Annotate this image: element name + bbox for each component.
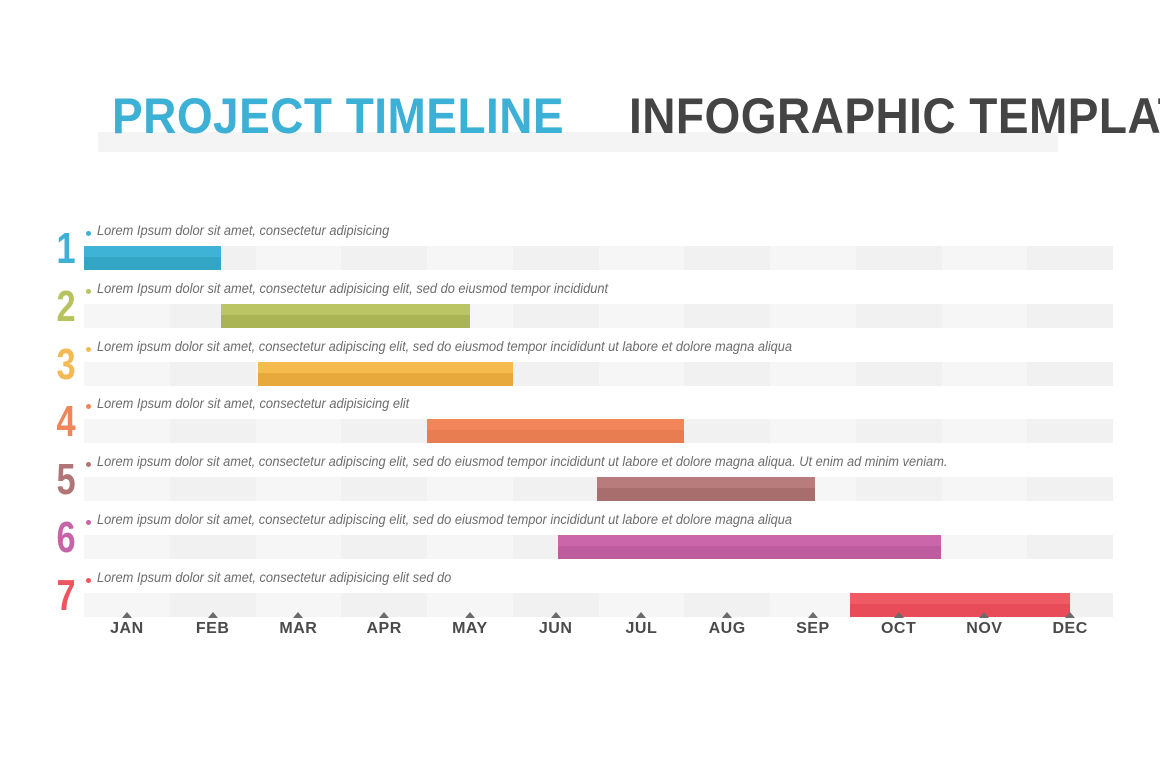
- axis-tick-apr: APR: [341, 612, 427, 638]
- tick-label: NOV: [942, 620, 1028, 638]
- row-label: Lorem Ipsum dolor sit amet, consectetur …: [97, 222, 389, 240]
- timeline-row: 5Lorem ipsum dolor sit amet, consectetur…: [48, 451, 1113, 509]
- track-column: [684, 246, 770, 270]
- track-column: [942, 419, 1028, 443]
- track-column: [856, 477, 942, 501]
- track-column: [84, 535, 170, 559]
- tick-label: JAN: [84, 620, 170, 638]
- timeline-bar[interactable]: [597, 477, 815, 501]
- track-column: [1027, 304, 1113, 328]
- tick-arrow-icon: [551, 612, 561, 618]
- axis-tick-mar: MAR: [256, 612, 342, 638]
- track-column: [256, 419, 342, 443]
- bullet-icon: [86, 404, 91, 409]
- tick-label: AUG: [684, 620, 770, 638]
- tick-label: SEP: [770, 620, 856, 638]
- timeline-bar[interactable]: [258, 362, 513, 386]
- tick-arrow-icon: [465, 612, 475, 618]
- month-axis: JANFEBMARAPRMAYJUNJULAUGSEPOCTNOVDEC: [84, 612, 1113, 656]
- tick-arrow-icon: [722, 612, 732, 618]
- bullet-icon: [86, 347, 91, 352]
- tick-arrow-icon: [1065, 612, 1075, 618]
- row-number: 2: [52, 284, 80, 330]
- track-column: [770, 246, 856, 270]
- track-column: [1027, 477, 1113, 501]
- tick-arrow-icon: [979, 612, 989, 618]
- track-column: [770, 362, 856, 386]
- track-column: [84, 419, 170, 443]
- axis-tick-oct: OCT: [856, 612, 942, 638]
- bar-highlight: [221, 304, 470, 315]
- track-column: [170, 419, 256, 443]
- row-track: [84, 362, 1113, 386]
- track-column: [256, 477, 342, 501]
- timeline-bar[interactable]: [84, 246, 221, 270]
- tick-arrow-icon: [379, 612, 389, 618]
- row-label: Lorem Ipsum dolor sit amet, consectetur …: [97, 280, 608, 298]
- row-label: Lorem Ipsum dolor sit amet, consectetur …: [97, 569, 451, 587]
- timeline-row: 6Lorem ipsum dolor sit amet, consectetur…: [48, 509, 1113, 567]
- track-column: [770, 419, 856, 443]
- track-column: [256, 246, 342, 270]
- bar-shade: [221, 315, 470, 328]
- track-column: [513, 477, 599, 501]
- tick-label: DEC: [1027, 620, 1113, 638]
- bullet-icon: [86, 520, 91, 525]
- track-column: [599, 304, 685, 328]
- track-column: [427, 535, 513, 559]
- bar-shade: [558, 546, 941, 559]
- timeline-row: 1Lorem Ipsum dolor sit amet, consectetur…: [48, 220, 1113, 278]
- track-column: [599, 362, 685, 386]
- tick-label: OCT: [856, 620, 942, 638]
- bar-highlight: [427, 419, 684, 430]
- bullet-icon: [86, 231, 91, 236]
- track-column: [84, 477, 170, 501]
- axis-tick-sep: SEP: [770, 612, 856, 638]
- timeline-row: 3Lorem ipsum dolor sit amet, consectetur…: [48, 336, 1113, 394]
- axis-tick-aug: AUG: [684, 612, 770, 638]
- track-column: [341, 535, 427, 559]
- track-column: [427, 477, 513, 501]
- bullet-icon: [86, 462, 91, 467]
- timeline-bar[interactable]: [221, 304, 470, 328]
- track-column: [513, 304, 599, 328]
- bar-shade: [84, 257, 221, 270]
- track-column: [684, 419, 770, 443]
- axis-tick-may: MAY: [427, 612, 513, 638]
- row-number: 7: [52, 573, 80, 619]
- track-column: [942, 246, 1028, 270]
- timeline-chart: 1Lorem Ipsum dolor sit amet, consectetur…: [0, 0, 1160, 772]
- bullet-icon: [86, 578, 91, 583]
- tick-arrow-icon: [636, 612, 646, 618]
- timeline-row: 4Lorem Ipsum dolor sit amet, consectetur…: [48, 393, 1113, 451]
- timeline-bar[interactable]: [427, 419, 684, 443]
- tick-label: JUL: [599, 620, 685, 638]
- track-column: [942, 477, 1028, 501]
- tick-arrow-icon: [293, 612, 303, 618]
- track-column: [84, 362, 170, 386]
- bar-shade: [597, 488, 815, 501]
- bar-highlight: [258, 362, 513, 373]
- timeline-row: 2Lorem Ipsum dolor sit amet, consectetur…: [48, 278, 1113, 336]
- row-number: 6: [52, 515, 80, 561]
- track-column: [856, 362, 942, 386]
- tick-label: APR: [341, 620, 427, 638]
- track-column: [1027, 535, 1113, 559]
- row-track: [84, 304, 1113, 328]
- track-column: [599, 246, 685, 270]
- bar-shade: [427, 430, 684, 443]
- track-column: [513, 362, 599, 386]
- track-column: [427, 246, 513, 270]
- track-column: [942, 535, 1028, 559]
- track-column: [341, 246, 427, 270]
- track-column: [84, 304, 170, 328]
- track-column: [170, 477, 256, 501]
- tick-label: MAR: [256, 620, 342, 638]
- row-track: [84, 246, 1113, 270]
- bar-highlight: [850, 593, 1070, 604]
- track-column: [256, 535, 342, 559]
- row-label: Lorem ipsum dolor sit amet, consectetur …: [97, 511, 792, 529]
- track-column: [341, 477, 427, 501]
- tick-label: JUN: [513, 620, 599, 638]
- row-track: [84, 535, 1113, 559]
- row-number: 5: [52, 457, 80, 503]
- tick-arrow-icon: [122, 612, 132, 618]
- bullet-icon: [86, 289, 91, 294]
- row-track: [84, 419, 1113, 443]
- tick-label: MAY: [427, 620, 513, 638]
- track-column: [1027, 419, 1113, 443]
- track-column: [170, 362, 256, 386]
- bar-highlight: [597, 477, 815, 488]
- row-label: Lorem ipsum dolor sit amet, consectetur …: [97, 338, 792, 356]
- tick-arrow-icon: [208, 612, 218, 618]
- track-column: [856, 304, 942, 328]
- axis-tick-jul: JUL: [599, 612, 685, 638]
- row-number: 1: [52, 226, 80, 272]
- axis-tick-feb: FEB: [170, 612, 256, 638]
- axis-tick-nov: NOV: [942, 612, 1028, 638]
- tick-arrow-icon: [808, 612, 818, 618]
- track-column: [513, 246, 599, 270]
- track-column: [770, 304, 856, 328]
- track-column: [856, 419, 942, 443]
- bar-highlight: [558, 535, 941, 546]
- row-label: Lorem ipsum dolor sit amet, consectetur …: [97, 453, 947, 471]
- row-number: 3: [52, 342, 80, 388]
- track-column: [170, 535, 256, 559]
- tick-label: FEB: [170, 620, 256, 638]
- axis-tick-jan: JAN: [84, 612, 170, 638]
- track-column: [684, 304, 770, 328]
- track-column: [1027, 246, 1113, 270]
- track-column: [942, 304, 1028, 328]
- bar-shade: [258, 373, 513, 386]
- axis-tick-dec: DEC: [1027, 612, 1113, 638]
- bar-highlight: [84, 246, 221, 257]
- track-column: [1027, 362, 1113, 386]
- track-column: [942, 362, 1028, 386]
- timeline-bar[interactable]: [558, 535, 941, 559]
- track-column: [341, 419, 427, 443]
- tick-arrow-icon: [894, 612, 904, 618]
- row-track: [84, 477, 1113, 501]
- axis-tick-jun: JUN: [513, 612, 599, 638]
- track-column: [856, 246, 942, 270]
- row-label: Lorem Ipsum dolor sit amet, consectetur …: [97, 395, 409, 413]
- track-column: [684, 362, 770, 386]
- row-number: 4: [52, 399, 80, 445]
